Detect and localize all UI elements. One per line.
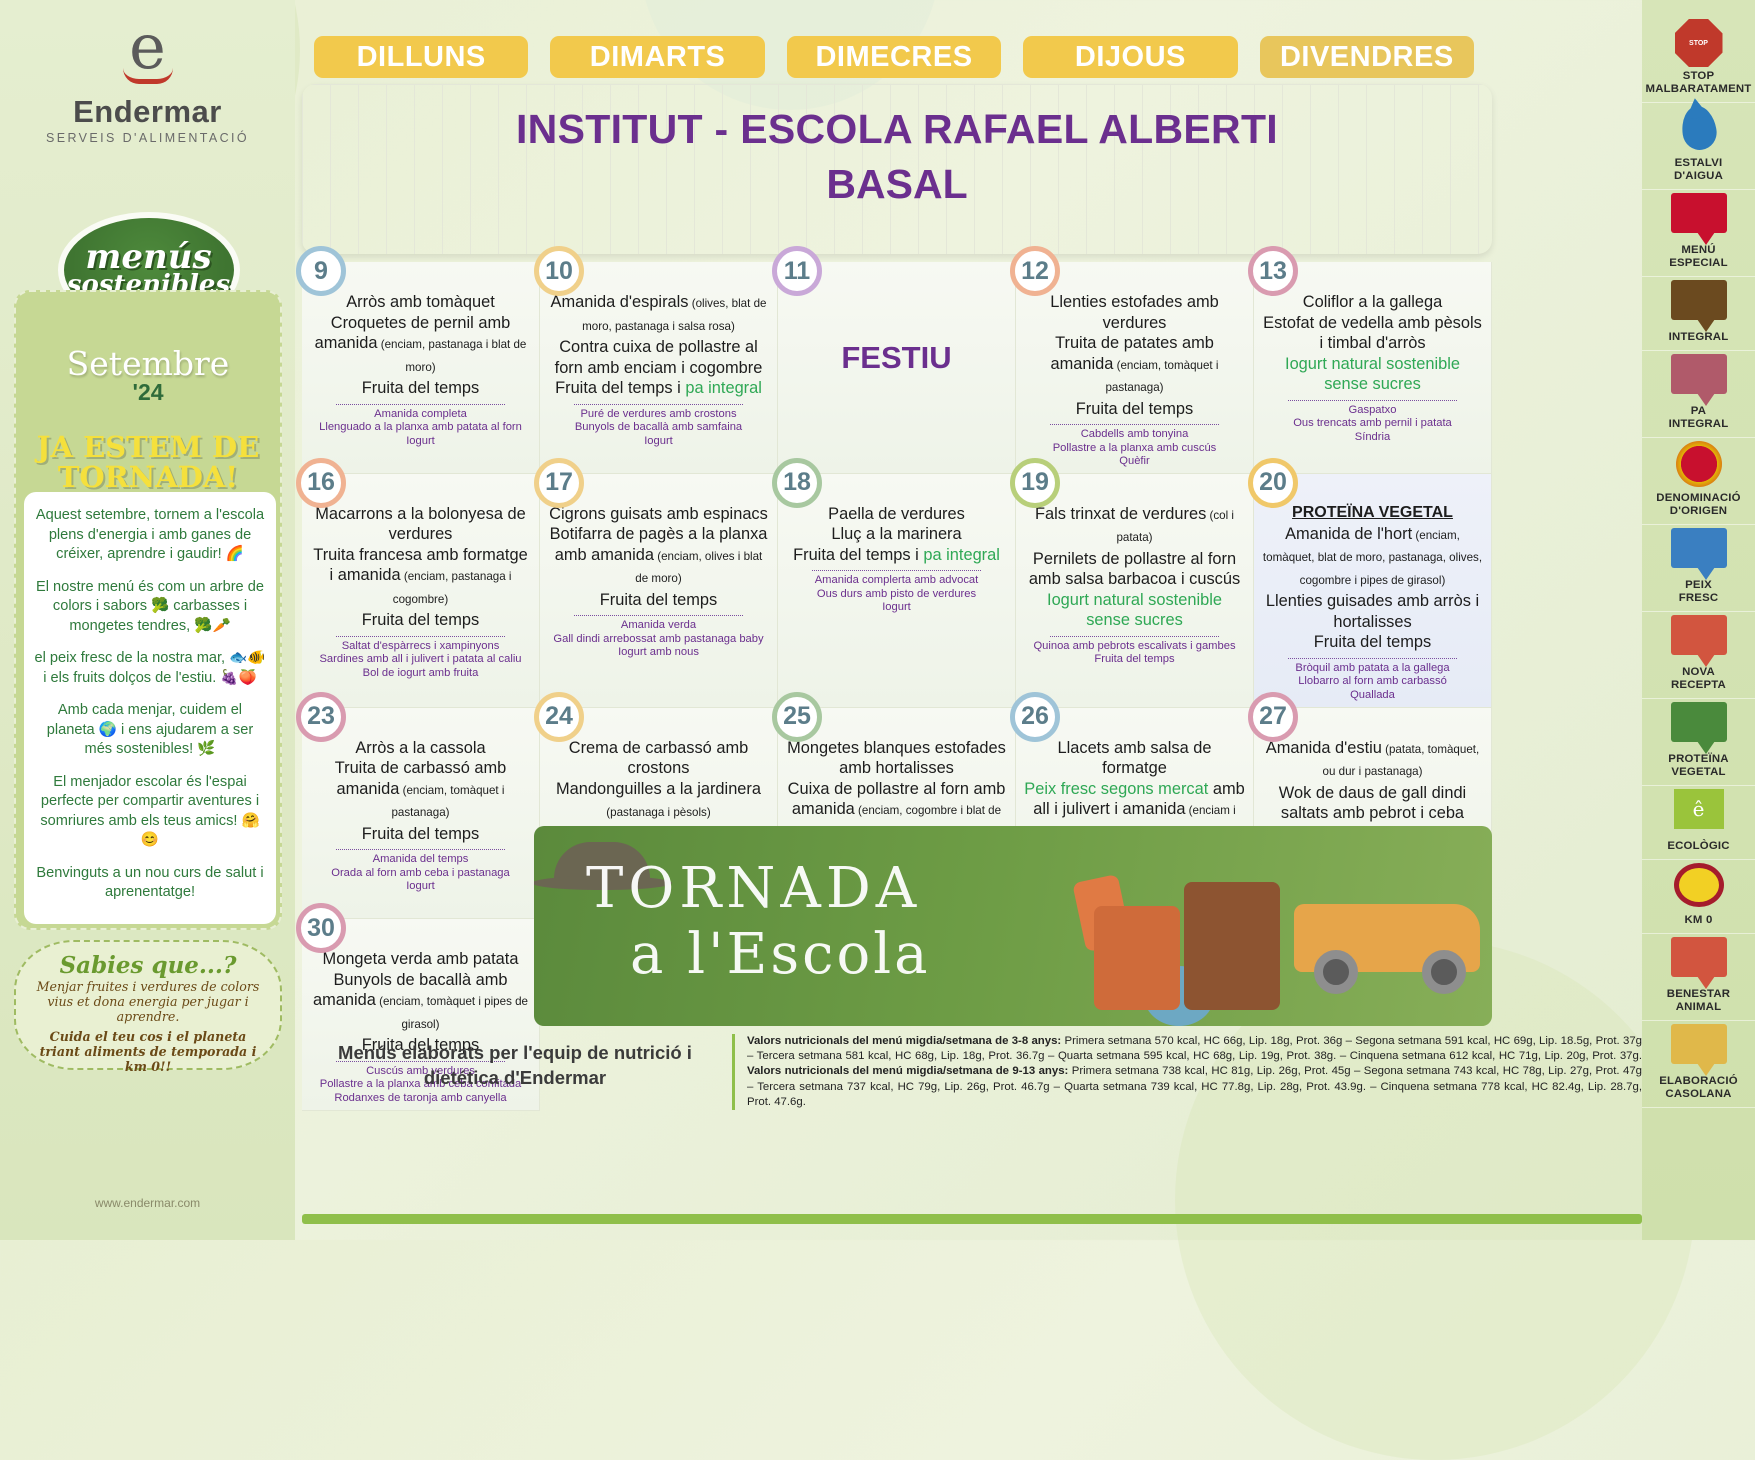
wholegrain-icon [1671,280,1727,328]
menu-day-cell-12[interactable]: 12Llenties estofades amb verduresTruita … [1016,262,1254,474]
day-number-26: 26 [1010,692,1060,742]
supplement-line-1: Pollastre a la planxa amb cuscús [1024,442,1245,456]
suitcase-icon [1094,906,1180,1010]
menu-line-0: Crema de carbassó amb crostons [548,738,769,779]
menu-line-1: Botifarra de pagès a la planxa amb amani… [548,524,769,590]
main-menu-text: Amanida d'espirals (olives, blat de moro… [548,292,769,399]
nutrition-values: Valors nutricionals del menú migdia/setm… [732,1034,1642,1110]
menu-line-0: Mongeta verda amb patata [310,949,531,970]
menu-day-cell-19[interactable]: 19Fals trinxat de verdures (col i patata… [1016,474,1254,708]
menu-line-1: Lluç a la marinera [786,524,1007,545]
note-paragraph-5: Benvinguts a un nou curs de salut i apre… [34,864,266,903]
supplement-line-1: Bunyols de bacallà amb samfaina [548,421,769,435]
legend-item-1[interactable]: ESTALVID'AIGUA [1642,103,1755,190]
legend-item-5[interactable]: DENOMINACIÓD'ORIGEN [1642,438,1755,525]
day-number-30: 30 [296,903,346,953]
month-label: Setembre [16,344,280,383]
menu-line-0: Arròs amb tomàquet [310,292,531,313]
menu-line-1: Truita de carbassó amb amanida (enciam, … [310,758,531,824]
legend-label-line1-10: KM 0 [1644,914,1753,927]
main-menu-text: Amanida de l'hort (enciam, tomàquet, bla… [1262,524,1483,653]
legend-item-9[interactable]: êECOLÒGIC [1642,786,1755,860]
menu-line-2: Fruita del temps i pa integral [786,545,1007,566]
day-number-17: 17 [534,458,584,508]
supplement-line-2: Iogurt [310,880,531,894]
note-paragraph-0: Aquest setembre, tornem a l'escola plens… [34,506,266,565]
menu-divider [1050,424,1219,425]
jeep-wheel-icon [1314,950,1358,994]
fish-icon [1671,528,1727,576]
legend-item-6[interactable]: PEIXFRESC [1642,525,1755,612]
main-menu-text: Macarrons a la bolonyesa de verduresTrui… [310,504,531,631]
day-number-24: 24 [534,692,584,742]
origin-seal-icon [1671,441,1727,489]
menu-divider [336,636,505,637]
supplement-menu-text: GaspatxoOus trencats amb pernil i patata… [1262,404,1483,445]
legend-label-line1-0: STOP [1644,70,1753,83]
website-url: www.endermar.com [0,1196,295,1210]
tip-body-2: Cuida el teu cos i el planeta triant ali… [32,1029,264,1074]
legend-item-8[interactable]: PROTEÏNAVEGETAL [1642,699,1755,786]
legend-item-3[interactable]: INTEGRAL [1642,277,1755,351]
menu-ingredients: (enciam, tomàquet i pastanaga) [1105,359,1218,395]
weekday-header-2: DIMECRES [787,36,1001,78]
legend-item-10[interactable]: KM 0 [1642,860,1755,934]
menu-ingredients: (enciam, pastanaga i blat de moro) [377,338,526,374]
supplement-menu-text: Bròquil amb patata a la gallegaLlobarro … [1262,662,1483,703]
menu-line-1: Bunyols de bacallà amb amanida (enciam, … [310,970,531,1036]
supplement-line-1: Llenguado a la planxa amb patata al forn [310,421,531,435]
legend-label-line2-7: RECEPTA [1644,679,1753,692]
supplement-line-2: Iogurt [786,601,1007,615]
supplement-line-0: Bròquil amb patata a la gallega [1262,662,1483,676]
menu-ingredients: (col i patata) [1116,509,1234,545]
highlighted-menu-item: pa integral [923,546,1000,564]
menu-line-2: Fruita del temps i pa integral [548,378,769,399]
brand-name: Endermar [0,94,295,130]
supplement-line-1: Ous trencats amb pernil i patata [1262,417,1483,431]
supplement-line-0: Puré de verdures amb crostons [548,408,769,422]
legend-item-4[interactable]: PAINTEGRAL [1642,351,1755,438]
menu-line-2: Iogurt natural sostenible sense sucres [1262,354,1483,395]
menu-day-cell-11[interactable]: 11FESTIU [778,262,1016,474]
badge-line-1: menús [85,242,211,272]
menu-line-1: Mandonguilles a la jardinera (pastanaga … [548,779,769,824]
legend-label-line2-12: CASOLANA [1644,1088,1753,1101]
endermar-e-logo-icon: e [111,16,185,90]
supplement-line-0: Gaspatxo [1262,404,1483,418]
supplement-line-1: Gall dindi arrebossat amb pastanaga baby [548,633,769,647]
legend-label-line1-6: PEIX [1644,579,1753,592]
legend-item-12[interactable]: ELABORACIÓCASOLANA [1642,1021,1755,1108]
menu-calendar-grid: 9Arròs amb tomàquetCroquetes de pernil a… [302,262,1492,822]
footer-strip [302,1214,1642,1224]
supplement-menu-text: Amanida completaLlenguado a la planxa am… [310,408,531,449]
day-number-27: 27 [1248,692,1298,742]
day-number-18: 18 [772,458,822,508]
menu-ingredients: (patata, tomàquet, ou dur i pastanaga) [1323,743,1480,779]
supplement-line-0: Cabdells amb tonyina [1024,428,1245,442]
supplement-line-0: Amanida completa [310,408,531,422]
legend-label-line2-0: MALBARATAMENT [1644,83,1753,96]
menu-line-0: Coliflor a la gallega [1262,292,1483,313]
weekday-header-1: DIMARTS [550,36,764,78]
menu-line-0: Arròs a la cassola [310,738,531,759]
legend-label-line2-8: VEGETAL [1644,766,1753,779]
main-menu-text: Arròs a la cassolaTruita de carbassó amb… [310,738,531,845]
year-label: '24 [16,379,280,406]
supplement-menu-text: Cabdells amb tonyinaPollastre a la planx… [1024,428,1245,469]
note-paragraph-4: El menjador escolar és l'espai perfecte … [34,773,266,851]
legend-label-line2-2: ESPECIAL [1644,257,1753,270]
note-paragraph-3: Amb cada menjar, cuidem el planeta 🌍 i e… [34,701,266,760]
menu-line-0: Amanida d'espirals (olives, blat de moro… [548,292,769,337]
supplement-line-2: Bol de iogurt amb fruita [310,667,531,681]
did-you-know-bubble: Sabies que...? Menjar fruites i verdures… [14,940,282,1070]
homemade-icon [1671,1024,1727,1072]
brand-tagline: SERVEIS D'ALIMENTACIÓ [0,131,295,145]
supplement-line-1: Sardines amb all i julivert i patata al … [310,653,531,667]
menu-line-1: Wok de daus de gall dindi saltats amb pe… [1262,783,1483,824]
supplement-line-1: Llobarro al forn amb carbassó [1262,675,1483,689]
supplement-line-0: Saltat d'espàrrecs i xampinyons [310,640,531,654]
sprout-icon [1671,702,1727,750]
jeep-wheel-icon [1422,950,1466,994]
bread-icon [1671,354,1727,402]
banner-line-2: a l'Escola [630,922,930,987]
main-menu-text: Cigrons guisats amb espinacsBotifarra de… [548,504,769,611]
highlighted-menu-item: pa integral [685,379,762,397]
menu-line-0: Macarrons a la bolonyesa de verdures [310,504,531,545]
menu-day-cell-16[interactable]: 16Macarrons a la bolonyesa de verduresTr… [302,474,540,708]
menu-day-cell-9[interactable]: 9Arròs amb tomàquetCroquetes de pernil a… [302,262,540,474]
legend-label-line2-11: ANIMAL [1644,1001,1753,1014]
school-name: INSTITUT - ESCOLA RAFAEL ALBERTI [302,106,1492,153]
cloche-icon [1671,193,1727,241]
legend-item-7[interactable]: NOVARECEPTA [1642,612,1755,699]
legend-label-line2-4: INTEGRAL [1644,418,1753,431]
brand-block: e Endermar SERVEIS D'ALIMENTACIÓ [0,16,295,145]
menu-day-cell-13[interactable]: 13Coliflor a la gallegaEstofat de vedell… [1254,262,1492,474]
note-paragraph-2: el peix fresc de la nostra mar, 🐟🐠 i els… [34,649,266,688]
legend-label-line2-1: D'AIGUA [1644,170,1753,183]
weekday-header-0: DILLUNS [314,36,528,78]
day-number-20: 20 [1248,458,1298,508]
main-menu-text: Paella de verduresLluç a la marineraFrui… [786,504,1007,566]
legend-label-line1-8: PROTEÏNA [1644,753,1753,766]
menu-line-1: Llenties guisades amb arròs i hortalisse… [1262,591,1483,632]
supplement-line-2: Iogurt [310,435,531,449]
legend-label-line2-6: FRESC [1644,592,1753,605]
legend-label-line1-4: PA [1644,405,1753,418]
supplement-menu-text: Amanida verdaGall dindi arrebossat amb p… [548,619,769,660]
day-number-25: 25 [772,692,822,742]
weekday-header-3: DIJOUS [1023,36,1237,78]
menu-line-2: Fruita del temps [1262,632,1483,653]
supplement-line-2: Síndria [1262,431,1483,445]
supplement-menu-text: Saltat d'espàrrecs i xampinyonsSardines … [310,640,531,681]
menu-divider [1288,658,1457,659]
menu-day-cell-10[interactable]: 10Amanida d'espirals (olives, blat de mo… [540,262,778,474]
menu-line-2: Fruita del temps [310,610,531,631]
menu-line-1: Croquetes de pernil amb amanida (enciam,… [310,313,531,379]
supplement-menu-text: Amanida del tempsOrada al forn amb ceba … [310,853,531,894]
menu-ingredients: (enciam, tomàquet i pastanaga) [391,784,504,820]
day-number-10: 10 [534,246,584,296]
highlighted-menu-item: Iogurt natural sostenible sense sucres [1285,355,1460,394]
note-paragraph-1: El nostre menú és com un arbre de colors… [34,578,266,637]
legend-item-0[interactable]: STOPSTOPMALBARATAMENT [1642,16,1755,103]
holiday-label: FESTIU [786,340,1007,376]
menu-day-cell-23[interactable]: 23Arròs a la cassolaTruita de carbassó a… [302,708,540,920]
highlighted-menu-item: Peix fresc segons mercat [1024,780,1208,798]
menu-line-2: Iogurt natural sostenible sense sucres [1024,590,1245,631]
menu-divider [812,570,981,571]
footer-credit: Menús elaborats per l'equip de nutrició … [324,1040,706,1090]
nutrition-label-1: Valors nutricionals del menú migdia/setm… [747,1065,1068,1077]
supplement-line-1: Ous durs amb pisto de verdures [786,588,1007,602]
tip-title: Sabies que...? [60,952,237,979]
weekday-header-row: DILLUNSDIMARTSDIMECRESDIJOUSDIVENDRES [314,36,1474,78]
supplement-menu-text: Quinoa amb pebrots escalivats i gambesFr… [1024,640,1245,667]
legend-label-line2-5: D'ORIGEN [1644,505,1753,518]
main-menu-text: Coliflor a la gallegaEstofat de vedella … [1262,292,1483,395]
supplement-line-0: Amanida del temps [310,853,531,867]
menu-line-1: Truita de patates amb amanida (enciam, t… [1024,333,1245,399]
legend-label-line1-1: ESTALVI [1644,157,1753,170]
supplement-menu-text: Amanida complerta amb advocatOus durs am… [786,574,1007,615]
suitcase-icon [1184,882,1280,1010]
menu-line-2: Fruita del temps [548,590,769,611]
cutlery-icon [1671,615,1727,663]
legend-label-line1-12: ELABORACIÓ [1644,1075,1753,1088]
menu-type: BASAL [302,161,1492,208]
menu-line-0: Mongetes blanques estofades amb hortalis… [786,738,1007,779]
menu-day-cell-20[interactable]: 20PROTEÏNA VEGETALAmanida de l'hort (enc… [1254,474,1492,708]
month-card: Setembre '24 JA ESTEM DE TORNADA! Aquest… [14,290,282,930]
day-number-19: 19 [1010,458,1060,508]
supplement-menu-text: Puré de verdures amb crostonsBunyols de … [548,408,769,449]
menu-line-1: Truita francesa amb formatge i amanida (… [310,545,531,611]
menu-divider [336,849,505,850]
menu-ingredients: (enciam, tomàquet i pipes de girasol) [376,995,528,1031]
supplement-line-2: Iogurt [548,435,769,449]
supplement-line-1: Fruita del temps [1024,653,1245,667]
left-info-panel: e Endermar SERVEIS D'ALIMENTACIÓ menús s… [0,0,295,1240]
menu-ingredients: (enciam, tomàquet, blat de moro, pastana… [1263,529,1482,587]
menu-divider [574,404,743,405]
menu-line-0: Fals trinxat de verdures (col i patata) [1024,504,1245,549]
menu-line-0: Llacets amb salsa de formatge [1024,738,1245,779]
main-menu-text: Arròs amb tomàquetCroquetes de pernil am… [310,292,531,399]
day-number-13: 13 [1248,246,1298,296]
supplement-line-0: Quinoa amb pebrots escalivats i gambes [1024,640,1245,654]
menu-line-0: Cigrons guisats amb espinacs [548,504,769,525]
legend-label-line1-2: MENÚ [1644,244,1753,257]
menu-ingredients: (enciam, pastanaga i cogombre) [393,570,512,606]
menu-divider [336,404,505,405]
weekday-header-4: DIVENDRES [1260,36,1474,78]
tip-body: Menjar fruites i verdures de colors vius… [32,979,264,1024]
welcome-note: Aquest setembre, tornem a l'escola plens… [24,492,276,924]
menu-line-2: Fruita del temps [1024,399,1245,420]
menu-line-2: Fruita del temps [310,378,531,399]
menu-day-cell-17[interactable]: 17Cigrons guisats amb espinacsBotifarra … [540,474,778,708]
supplement-line-2: Iogurt amb nous [548,646,769,660]
day-number-16: 16 [296,458,346,508]
legend-label-line1-7: NOVA [1644,666,1753,679]
highlighted-menu-item: Iogurt natural sostenible sense sucres [1047,591,1222,630]
animal-welfare-icon [1671,937,1727,985]
water-drop-icon [1671,106,1727,154]
day-number-12: 12 [1010,246,1060,296]
supplement-line-0: Amanida complerta amb advocat [786,574,1007,588]
menu-ingredients: (pastanaga i pèsols) [606,806,710,819]
menu-line-1: Pernilets de pollastre al forn amb salsa… [1024,549,1245,590]
eco-icon: ê [1671,789,1727,837]
banner-line-1: TORNADA [586,856,921,921]
supplement-line-1: Orada al forn amb ceba i pastanaga [310,867,531,881]
supplement-line-2: Quèfir [1024,455,1245,469]
season-headline: JA ESTEM DE TORNADA! [24,432,272,492]
menu-day-cell-18[interactable]: 18Paella de verduresLluç a la marineraFr… [778,474,1016,708]
menu-line-0: Amanida de l'hort (enciam, tomàquet, bla… [1262,524,1483,592]
stop-waste-icon: STOP [1671,19,1727,67]
day-number-11: 11 [772,246,822,296]
supplement-line-0: Amanida verda [548,619,769,633]
legend-label-line1-9: ECOLÒGIC [1644,840,1753,853]
menu-line-0: Amanida d'estiu (patata, tomàquet, ou du… [1262,738,1483,783]
menu-line-2: Fruita del temps [310,824,531,845]
main-menu-text: Fals trinxat de verdures (col i patata)P… [1024,504,1245,631]
back-to-school-banner: TORNADA a l'Escola [534,826,1492,1026]
day-number-23: 23 [296,692,346,742]
legend-label-line1-5: DENOMINACIÓ [1644,492,1753,505]
nutrition-label-0: Valors nutricionals del menú migdia/setm… [747,1035,1061,1047]
day-number-9: 9 [296,246,346,296]
menu-line-1: Estofat de vedella amb pèsols i timbal d… [1262,313,1483,354]
main-menu-text: Llenties estofades amb verduresTruita de… [1024,292,1245,419]
vegetal-protein-title: PROTEÏNA VEGETAL [1262,504,1483,522]
menu-line-1: Contra cuixa de pollastre al forn amb en… [548,337,769,378]
legend-sidebar: STOPSTOPMALBARATAMENTESTALVID'AIGUAMENÚE… [1642,0,1755,1240]
legend-label-line1-3: INTEGRAL [1644,331,1753,344]
title-card: INSTITUT - ESCOLA RAFAEL ALBERTI BASAL [302,84,1492,254]
legend-item-11[interactable]: BENESTARANIMAL [1642,934,1755,1021]
menu-divider [574,615,743,616]
footer: Menús elaborats per l'equip de nutrició … [302,1034,1642,1124]
menu-ingredients: (olives, blat de moro, pastanaga i salsa… [582,297,766,333]
menu-ingredients: (enciam, olives i blat de moro) [635,550,762,586]
menu-divider [1050,636,1219,637]
menu-divider [1288,400,1457,401]
km0-icon [1671,863,1727,911]
supplement-line-2: Quallada [1262,689,1483,703]
menu-line-0: Paella de verdures [786,504,1007,525]
menu-line-0: Llenties estofades amb verdures [1024,292,1245,333]
legend-item-2[interactable]: MENÚESPECIAL [1642,190,1755,277]
legend-label-line1-11: BENESTAR [1644,988,1753,1001]
